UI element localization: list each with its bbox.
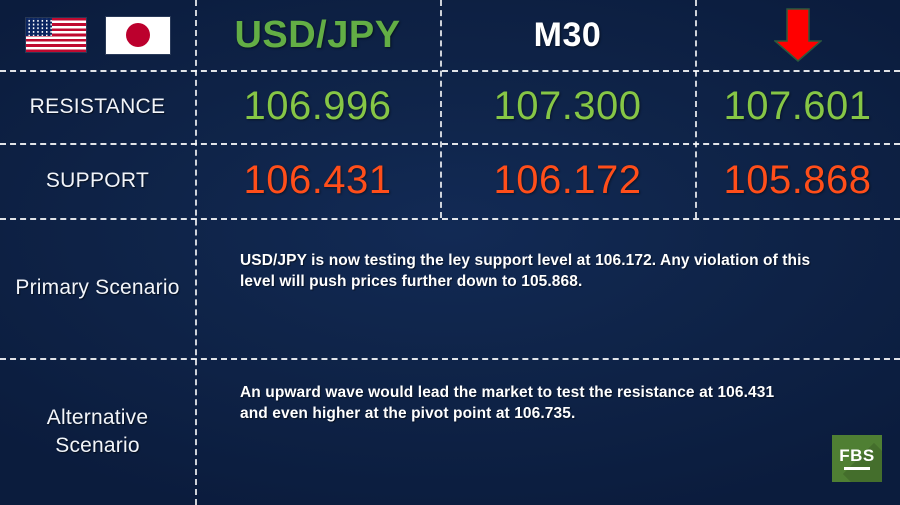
us-flag-canton — [26, 18, 52, 36]
arrow-down-icon — [774, 7, 822, 63]
resistance-value-2-cell: 107.300 — [440, 70, 695, 143]
resistance-value-1: 106.996 — [243, 84, 391, 129]
fbs-logo-text: FBS — [839, 447, 875, 464]
fbs-logo: FBS — [832, 435, 882, 482]
flag-united-states-icon — [26, 18, 86, 52]
trend-direction-cell — [695, 0, 900, 70]
support-value-3: 105.868 — [723, 158, 871, 203]
primary-scenario-body: USD/JPY is now testing the ley support l… — [240, 250, 840, 292]
alternative-label-line-2: Scenario — [55, 434, 139, 457]
timeframe-cell: M30 — [440, 0, 695, 70]
timeframe-label: M30 — [534, 16, 602, 55]
forex-signal-card: USD/JPY M30 RESISTANCE 106.996 107.300 1… — [0, 0, 900, 505]
resistance-value-3: 107.601 — [723, 84, 871, 129]
primary-scenario-text: USD/JPY is now testing the ley support l… — [240, 252, 810, 290]
resistance-value-2: 107.300 — [493, 84, 641, 129]
currency-flags — [0, 0, 195, 70]
support-value-1: 106.431 — [243, 158, 391, 203]
resistance-value-3-cell: 107.601 — [695, 70, 900, 143]
alternative-scenario-body: An upward wave would lead the market to … — [240, 382, 800, 424]
support-value-3-cell: 105.868 — [695, 143, 900, 218]
support-value-2: 106.172 — [493, 158, 641, 203]
alternative-scenario-label-text: Alternative Scenario — [47, 404, 148, 460]
resistance-value-1-cell: 106.996 — [195, 70, 440, 143]
support-value-1-cell: 106.431 — [195, 143, 440, 218]
japan-flag-sun — [126, 23, 150, 47]
currency-pair-title: USD/JPY — [234, 14, 400, 57]
alternative-scenario-text: An upward wave would lead the market to … — [240, 384, 774, 422]
support-row-label: SUPPORT — [0, 143, 195, 218]
primary-scenario-label: Primary Scenario — [0, 218, 195, 358]
resistance-row-label: RESISTANCE — [0, 70, 195, 143]
primary-scenario-label-text: Primary Scenario — [15, 274, 179, 302]
currency-pair-cell: USD/JPY — [195, 0, 440, 70]
flag-japan-icon — [106, 17, 170, 54]
fbs-logo-underline — [844, 467, 870, 470]
support-value-2-cell: 106.172 — [440, 143, 695, 218]
alternative-scenario-label: Alternative Scenario — [0, 358, 195, 505]
alternative-label-line-1: Alternative — [47, 406, 148, 429]
resistance-label-text: RESISTANCE — [30, 95, 166, 119]
support-label-text: SUPPORT — [46, 169, 149, 193]
